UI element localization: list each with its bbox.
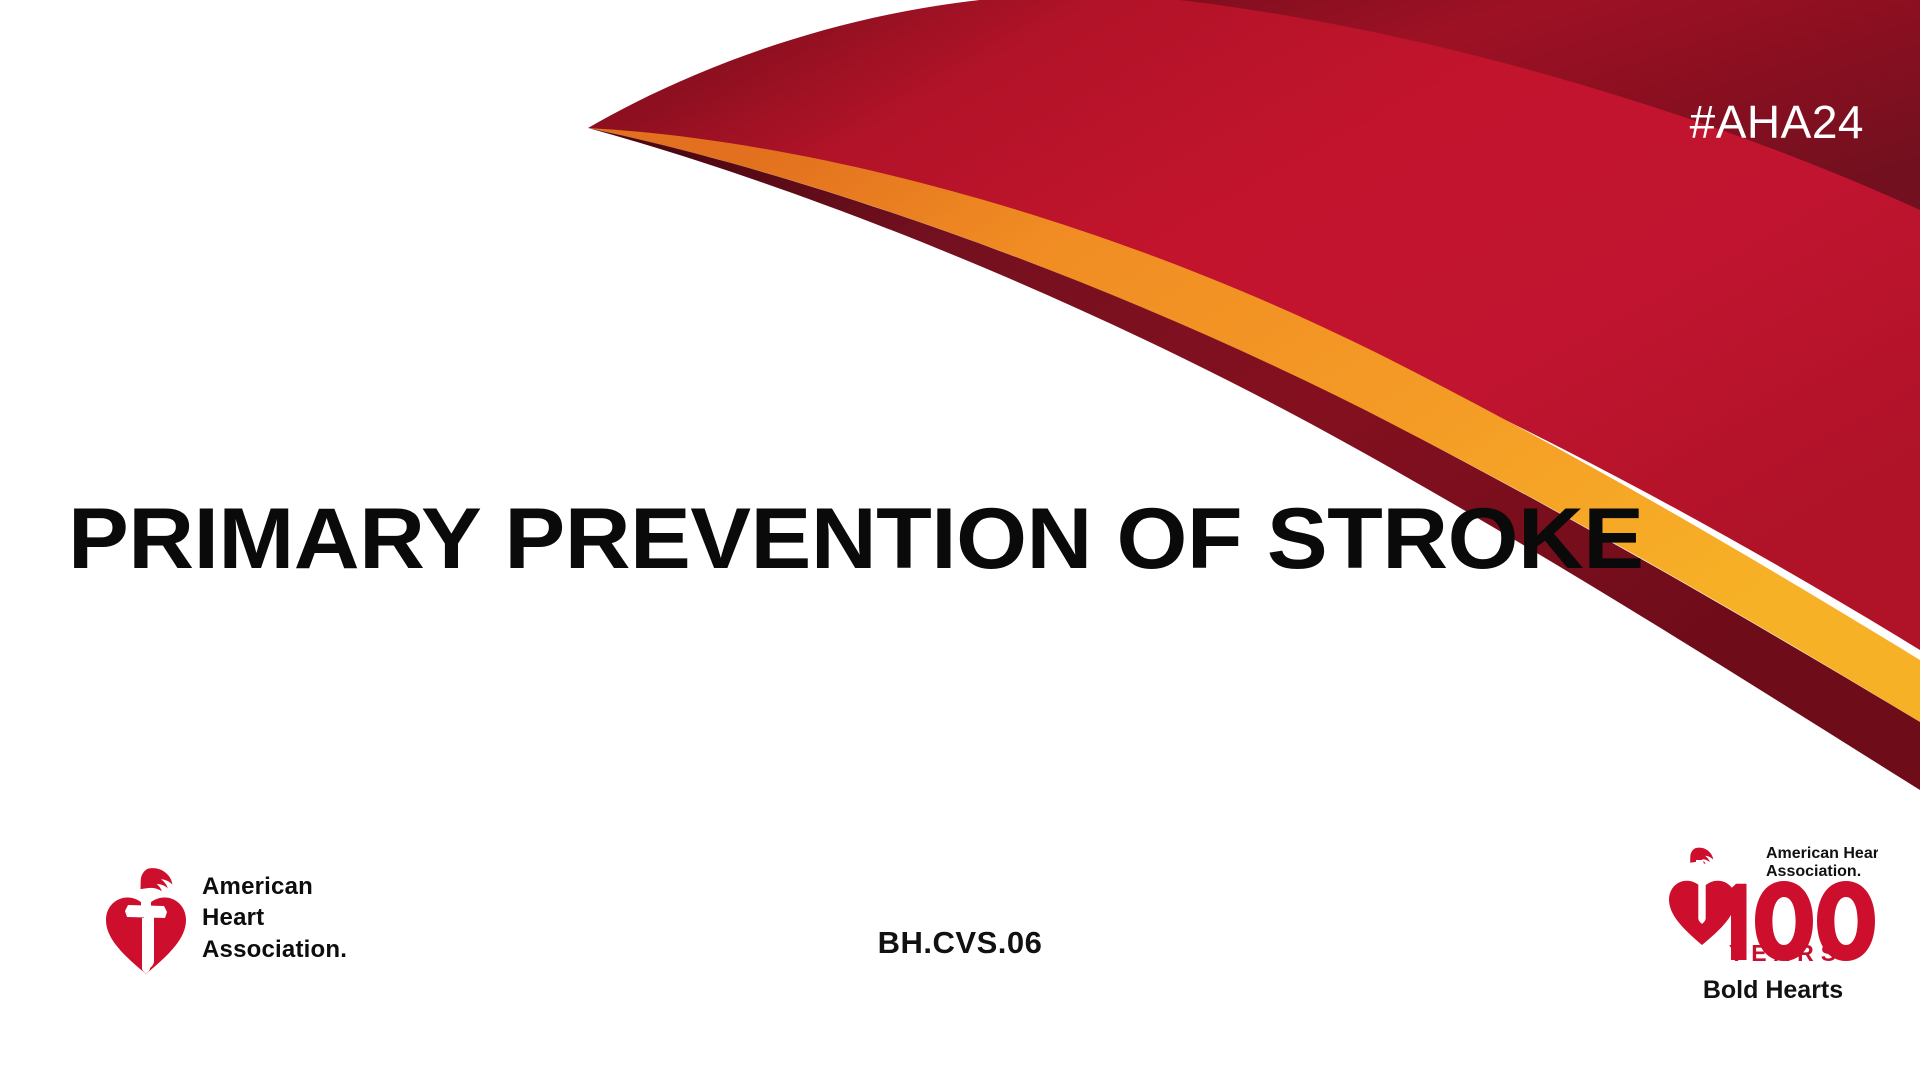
aha-wordmark-line-1: American bbox=[202, 871, 347, 902]
torch-inner-shaft bbox=[142, 918, 150, 974]
torch-crossbar bbox=[1682, 872, 1714, 881]
hashtag-label: #AHA24 bbox=[1690, 95, 1864, 149]
aha-wordmark-line-2: Heart bbox=[202, 902, 347, 933]
torch-crossbar bbox=[125, 905, 167, 918]
aha-wordmark: American Heart Association. bbox=[202, 871, 347, 965]
american-heart-association-logo: American Heart Association. bbox=[104, 862, 347, 974]
heart-torch-icon bbox=[104, 862, 188, 974]
years-logo-org-line-2: Association. bbox=[1766, 863, 1861, 880]
100-years-bold-hearts-logo: American Heart Association. YEARS Bold H… bbox=[1668, 840, 1878, 1020]
years-logo-org-line-1: American Heart bbox=[1766, 845, 1878, 862]
swoosh-corner-field bbox=[1010, 0, 1920, 430]
aha-wordmark-line-3: Association. bbox=[202, 934, 347, 965]
swoosh-band-deep-red-top bbox=[588, 0, 1920, 300]
swoosh-band-orange-stripe bbox=[588, 128, 1920, 722]
flame-shape bbox=[141, 868, 173, 891]
bold-hearts-tagline: Bold Hearts bbox=[1668, 976, 1878, 1005]
swoosh-band-dark-maroon-bottom bbox=[588, 128, 1920, 790]
slide-canvas: #AHA24 PRIMARY PREVENTION OF STROKE BH.C… bbox=[0, 0, 1920, 1080]
page-title: PRIMARY PREVENTION OF STROKE bbox=[68, 496, 1644, 582]
